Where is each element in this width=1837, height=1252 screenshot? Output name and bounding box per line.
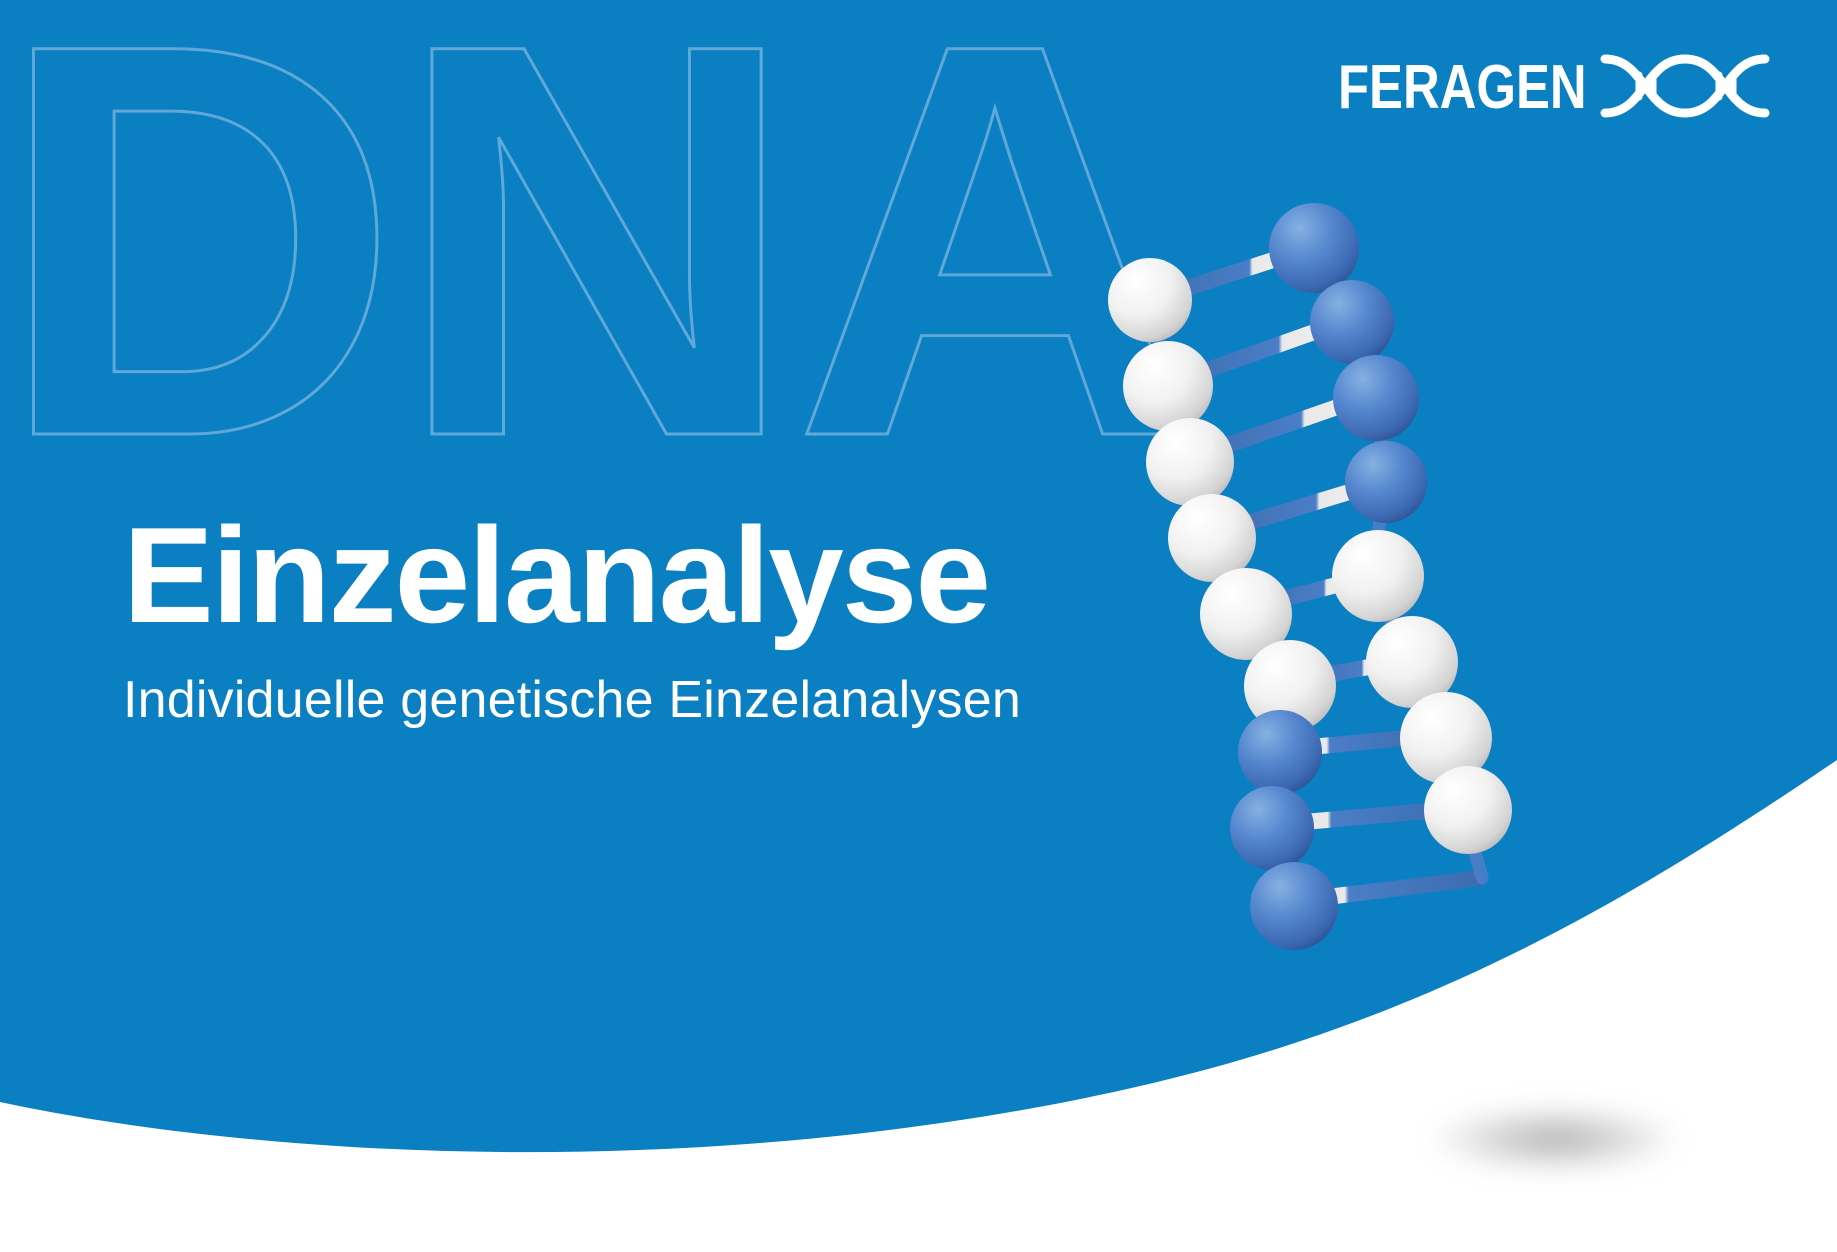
page-subtitle: Individuelle genetische Einzelanalysen	[123, 668, 1143, 732]
dna-double-helix-3d-model	[1090, 190, 1650, 980]
hero-copy: Einzelanalyse Individuelle genetische Ei…	[123, 500, 1143, 732]
page-title: Einzelanalyse	[123, 500, 1143, 650]
model-drop-shadow	[1430, 1105, 1680, 1173]
logo-wordmark: FERAGEN	[1338, 57, 1587, 119]
dna-double-helix-icon	[1597, 51, 1777, 126]
feragen-logo[interactable]: FERAGEN	[1338, 56, 1777, 120]
dna-einzelanalyse-banner: DNA FERAGEN Einzela	[0, 0, 1837, 1252]
